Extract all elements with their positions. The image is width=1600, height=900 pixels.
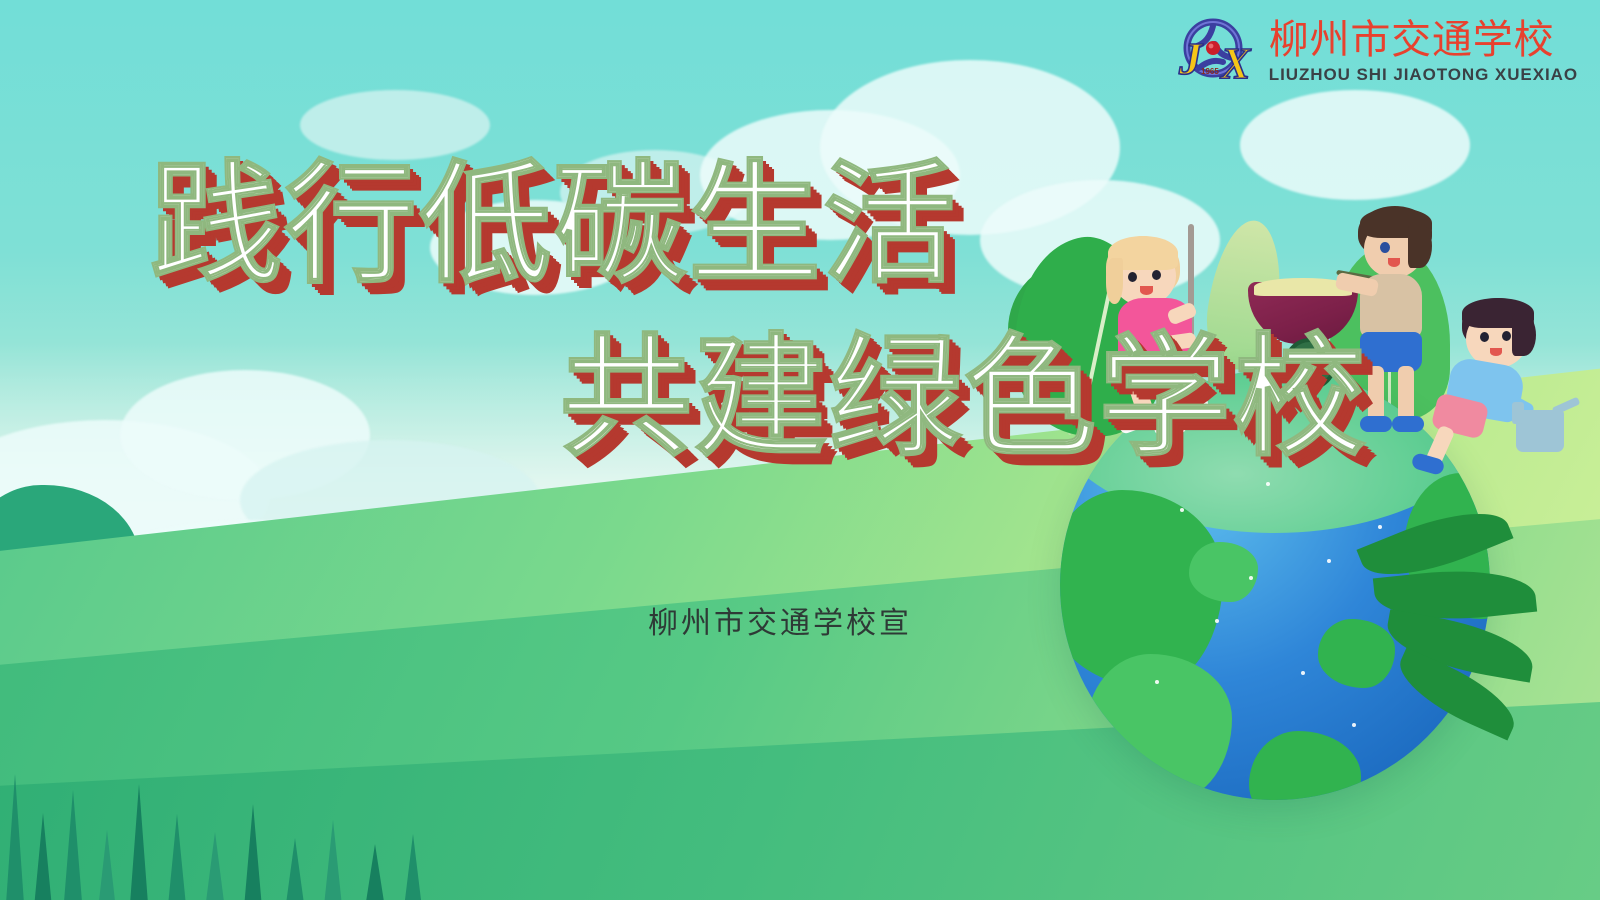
headline-line-1: 践行低碳生活: [150, 150, 1430, 299]
globe-continent: [1086, 654, 1232, 800]
boy2-mouth: [1490, 348, 1502, 356]
poster-canvas: 践行低碳生活 共建绿色学校 柳州市交通学校宣 J X: [0, 0, 1600, 900]
watering-can-spout: [1552, 397, 1581, 416]
boy2-hair-side: [1512, 314, 1536, 356]
school-name-pinyin: LIUZHOU SHI JIAOTONG XUEXIAO: [1269, 66, 1578, 83]
headline-line-2: 共建绿色学校: [560, 323, 1430, 472]
svg-text:J: J: [1178, 33, 1204, 84]
poster-subtitle: 柳州市交通学校宣: [0, 598, 1560, 642]
school-name-block: 柳州市交通学校 LIUZHOU SHI JIAOTONG XUEXIAO: [1269, 20, 1578, 83]
child-boy-with-watering-can: [1408, 298, 1588, 518]
globe-continent: [1249, 731, 1361, 800]
svg-text:1965: 1965: [1201, 67, 1219, 76]
school-name-chinese: 柳州市交通学校: [1269, 20, 1578, 60]
school-emblem-icon: J X 1965: [1163, 12, 1255, 90]
school-logo: J X 1965 柳州市交通学校 LIUZHOU SHI JIAOTONG XU…: [1163, 12, 1578, 90]
watering-can-handle: [1512, 402, 1524, 424]
svg-text:X: X: [1219, 39, 1252, 88]
headline-block: 践行低碳生活 共建绿色学校: [0, 150, 1430, 472]
boy2-eye: [1480, 332, 1489, 342]
boy2-eye: [1502, 331, 1511, 341]
